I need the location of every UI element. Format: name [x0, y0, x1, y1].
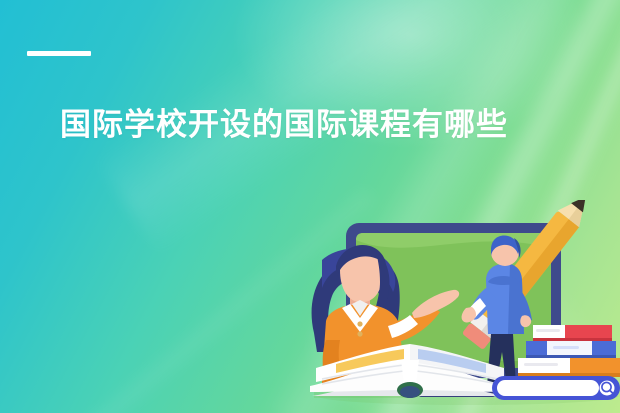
book-stack: [518, 325, 620, 377]
search-icon[interactable]: [600, 381, 615, 396]
search-input[interactable]: [497, 380, 599, 396]
online-education-illustration: [300, 200, 620, 413]
book-top: [533, 325, 612, 341]
promo-banner: 国际学校开设的国际课程有哪些: [0, 0, 620, 413]
book-middle: [526, 341, 616, 358]
search-bar[interactable]: [492, 376, 620, 400]
book-bottom: [518, 358, 620, 377]
page-title: 国际学校开设的国际课程有哪些: [60, 105, 508, 145]
accent-bar: [27, 51, 91, 56]
